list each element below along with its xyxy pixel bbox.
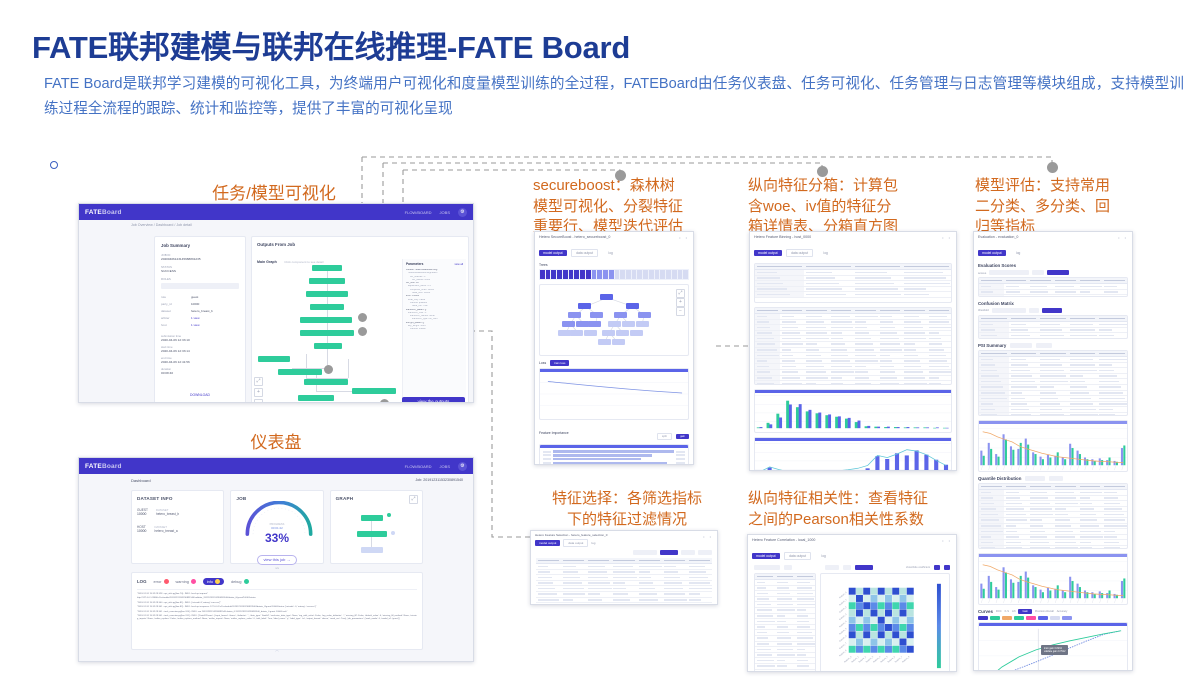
tree-index-cell[interactable] (540, 270, 545, 279)
quantile-select-b[interactable] (1049, 476, 1063, 481)
curve-tab-ks[interactable]: K-S (1005, 610, 1009, 613)
screenshot-secureboost[interactable]: • • Hetero SecureBoost - hetero_securebo… (534, 231, 694, 465)
dag-node[interactable] (314, 343, 342, 349)
table-row[interactable] (536, 603, 712, 605)
table-cell (1097, 338, 1127, 339)
feature-importance-rows (543, 450, 685, 465)
log-line: "2019-12-31 15:32:29.540 - api_utils.py[… (137, 602, 417, 605)
table-cell (1053, 295, 1078, 297)
tree-selector-strip[interactable] (539, 269, 689, 280)
card-title: GRAPH (336, 496, 417, 501)
curve-legend-chip[interactable] (1038, 616, 1048, 620)
tree-node[interactable] (600, 294, 613, 300)
tree-index-cell[interactable] (626, 270, 631, 279)
curve-tab-acc[interactable]: Accuracy (1057, 610, 1068, 613)
dag-anchor-dot (324, 365, 333, 374)
svg-text:feature_0: feature_0 (839, 591, 848, 600)
outputs-from-job-card: Outputs From Job Main Graph Click compon… (251, 236, 469, 403)
tree-node[interactable] (626, 303, 639, 309)
screenshot-evaluation[interactable]: • • Evaluation - evaluation_0 model outp… (973, 231, 1133, 671)
dataset-count: 10000 (137, 512, 148, 516)
board-topbar: FATEBoard FLOW/BOARD JOBS ⚙ (79, 458, 473, 474)
field-value[interactable]: 1 view (191, 316, 200, 320)
parameters-more-link[interactable]: view all (454, 263, 463, 266)
parameters-panel: Parameters view all module: HeteroFeatur… (402, 259, 466, 399)
dag-anchor-dot (387, 513, 391, 517)
feature-selection-table[interactable] (536, 558, 712, 605)
table-cell (795, 669, 815, 672)
dag-node[interactable] (352, 388, 396, 394)
binning-woe-bars (755, 438, 951, 471)
loss-chart (539, 368, 689, 420)
breadcrumb: Job Overview / Dashboard / Job detail (79, 220, 473, 227)
confusion-apply-button[interactable] (1042, 308, 1062, 313)
table-cell (829, 381, 854, 385)
parameters-title: Parameters (406, 262, 423, 266)
gauge-sub: 00:01:22 (231, 526, 322, 530)
window-controls-icon[interactable]: • • (679, 235, 689, 240)
gauge-cta-sub: n/a (231, 567, 322, 570)
log-filter-debug[interactable]: debug (231, 579, 249, 584)
feature-importance-title: Feature Importance (539, 431, 569, 435)
table-cell (780, 381, 805, 385)
binning-event-bars (755, 390, 951, 432)
log-line: "2019-12-31 15:32:29.541 - api_utils.py[… (137, 606, 417, 609)
window-controls-icon[interactable]: • • (703, 534, 713, 539)
tree-node[interactable] (608, 321, 621, 327)
panel-title: Hetero Feature Binning - host_0000 (754, 235, 952, 239)
table-cell (755, 381, 780, 385)
dag-node[interactable] (361, 515, 383, 521)
tab-model-output[interactable]: model output (754, 250, 782, 256)
tree-node[interactable] (622, 321, 635, 327)
dag-node[interactable] (312, 265, 342, 271)
dag-node[interactable] (309, 278, 345, 284)
curve-legend[interactable] (978, 616, 1128, 620)
tree-node[interactable] (616, 330, 629, 336)
annotation-evaluation: 模型评估：支持常用 二分类、多分类、回 归等指标 (975, 176, 1145, 238)
nav-flow-board[interactable]: FLOW/BOARD (405, 210, 432, 215)
corr-checkbox-label[interactable]: show/hide coefficient (906, 566, 930, 569)
log-label: LOG (137, 579, 147, 584)
annotation-dot-evaluation (1047, 162, 1058, 173)
tree-node[interactable] (570, 330, 583, 336)
table-cell (1009, 412, 1039, 416)
mini-dag[interactable] (353, 511, 407, 559)
tree-index-cell[interactable] (678, 270, 683, 279)
tab-model-output[interactable]: model output (978, 250, 1006, 256)
field-value: hetero_breast_b (191, 309, 213, 313)
dataset-info-card: DATASET INFO GUEST 10000 DATASET hetero_… (131, 490, 224, 564)
loss-line (540, 369, 688, 419)
table-cell (1078, 545, 1103, 549)
dag-node[interactable] (300, 317, 352, 323)
tab-data-output[interactable]: data output (784, 552, 811, 560)
table-cell (979, 545, 1004, 549)
tree-index-cell[interactable] (649, 270, 654, 279)
parameters-list: module: HeteroFeatureBinningHeteroFeatur… (406, 269, 463, 332)
field-label: role (161, 295, 187, 299)
field-value: 10000 (191, 302, 199, 306)
psi-bars (979, 421, 1127, 471)
field-label: party_id (161, 302, 187, 306)
tree-index-cell[interactable] (643, 270, 648, 279)
tree-node[interactable] (568, 312, 581, 318)
board-topbar: FATEBoard FLOW/BOARD JOBS ⚙ (79, 204, 473, 220)
bullet-marker-icon (50, 161, 58, 169)
window-controls-icon[interactable]: • • (1118, 235, 1128, 240)
table-cell (1004, 545, 1029, 549)
table-row[interactable] (979, 338, 1127, 339)
card-title: DATASET INFO (137, 496, 218, 501)
tab-log[interactable]: log (823, 251, 827, 255)
panel-title: Hetero Feature Selection - hetero_featur… (535, 533, 713, 537)
curve-tab-gain[interactable]: Gain (1018, 609, 1031, 614)
tab-model-output[interactable]: model output (535, 540, 560, 546)
table-cell (687, 603, 712, 605)
tree-node[interactable] (590, 312, 603, 318)
dag-node[interactable] (298, 395, 334, 401)
corr-search-input[interactable] (754, 565, 780, 570)
log-lines[interactable]: "2019-12-31 15:32:29.528 - api_utils.py[… (137, 589, 417, 647)
tree-index-cell[interactable] (620, 270, 625, 279)
curve-legend-chip[interactable] (1014, 616, 1024, 620)
table-cell (927, 381, 952, 385)
field-value[interactable]: 1 view (191, 323, 200, 327)
tree-node[interactable] (638, 312, 651, 318)
table-cell (1038, 412, 1068, 416)
tab-data-output[interactable]: data output (571, 249, 598, 257)
feature-importance-chart[interactable] (539, 444, 689, 465)
section-curves: Curves (978, 609, 993, 614)
tree-node[interactable] (578, 303, 591, 309)
threshold-slider[interactable] (992, 308, 1026, 313)
tab-log[interactable]: log (591, 541, 595, 545)
psi-select-b[interactable] (1036, 343, 1052, 348)
nav-flow-board[interactable]: FLOW/BOARD (405, 464, 432, 469)
panel-title: Evaluation - evaluation_0 (978, 235, 1128, 239)
table-cell (1028, 295, 1053, 297)
evaluation-scores-table[interactable] (978, 277, 1128, 297)
table-cell (775, 669, 795, 672)
log-line: "2019-12-31 15:32:29.528 - api_utils.py[… (137, 593, 417, 596)
binning-detail-table[interactable] (754, 307, 952, 385)
tree-index-cell[interactable] (597, 270, 602, 279)
curve-legend-chip[interactable] (1026, 616, 1036, 620)
nav-jobs[interactable]: JOBS (440, 464, 450, 469)
tree-index-cell[interactable] (569, 270, 574, 279)
tab-log[interactable]: log (608, 251, 612, 255)
binning-summary-table[interactable] (754, 263, 952, 303)
correlation-heatmap[interactable]: feature_0feature_0feature_1feature_1feat… (820, 573, 950, 672)
table-cell (979, 338, 1009, 339)
fs-filter-button[interactable] (681, 550, 695, 555)
curve-legend-chip[interactable] (978, 616, 988, 620)
annotation-binning: 纵向特征分箱：计算包 含woe、iv值的特征分 箱详情表、分箱直方图 (748, 176, 934, 238)
fateboard-logo: FATEBoard (85, 463, 122, 470)
dag-anchor-dot (391, 531, 395, 535)
importance-legend-split[interactable]: split (657, 433, 672, 440)
binning-woe-chart (754, 437, 952, 471)
table-cell (536, 603, 561, 605)
tree-node[interactable] (614, 312, 627, 318)
feature-importance-row (543, 450, 685, 453)
screenshot-dashboard[interactable]: FATEBoard FLOW/BOARD JOBS ⚙ Dashboard Jo… (78, 457, 474, 662)
quantile-select-a[interactable] (1025, 476, 1045, 481)
table-cell (853, 381, 878, 385)
curve-legend-chip[interactable] (1062, 616, 1072, 620)
fs-search-input[interactable] (633, 550, 657, 555)
fs-export-button[interactable] (698, 550, 712, 555)
panel-title: Hetero Feature Correlation - local_1000 (752, 538, 952, 542)
tab-log[interactable]: log (1016, 251, 1020, 255)
zoom-out-button[interactable]: − (254, 399, 263, 403)
tree-node[interactable] (588, 321, 601, 327)
tab-data-output[interactable]: data output (563, 539, 588, 547)
tree-index-cell[interactable] (660, 270, 665, 279)
screenshot-job-model-visualization[interactable]: FATEBoard FLOW/BOARD JOBS ⚙ Job Overview… (78, 203, 474, 403)
table-row[interactable] (979, 545, 1127, 549)
tree-index-cell[interactable] (655, 270, 660, 279)
dataset-name: hetero_breast_a (154, 529, 177, 533)
scores-filter[interactable] (1032, 270, 1044, 275)
view-job-button[interactable]: view this job → (257, 555, 298, 565)
tree-index-cell[interactable] (551, 270, 556, 279)
feature-importance-row (543, 454, 685, 457)
quantile-distribution-table[interactable] (978, 483, 1128, 549)
job-summary-card: Job Summary JOB ID 202004061231456888912… (154, 236, 246, 403)
scores-select[interactable] (989, 270, 1029, 275)
tree-index-cell[interactable] (632, 270, 637, 279)
dag-node[interactable] (300, 330, 354, 336)
corr-confirm-button[interactable] (855, 565, 873, 570)
corr-view-toggle-a[interactable] (934, 565, 940, 570)
tree-index-cell[interactable] (603, 270, 608, 279)
table-cell (1038, 338, 1068, 339)
tree-index-cell[interactable] (557, 270, 562, 279)
tree-node[interactable] (612, 339, 625, 345)
dag-node[interactable] (278, 369, 322, 375)
dag-canvas[interactable]: ⤢ + − (256, 259, 404, 399)
dag-node[interactable] (304, 379, 348, 385)
table-row[interactable] (755, 381, 951, 385)
dag-anchor-dot (358, 313, 367, 322)
table-cell (853, 292, 902, 298)
table-cell (1102, 545, 1127, 549)
corr-select-b[interactable] (843, 565, 851, 570)
log-filter-error[interactable]: error (154, 579, 169, 584)
section-confusion-matrix: Confusion Matrix (978, 301, 1128, 306)
threshold-value[interactable] (1029, 308, 1039, 313)
tree-index-cell[interactable] (637, 270, 642, 279)
window-controls-icon[interactable]: • • (942, 235, 952, 240)
loss-legend[interactable]: train loss (550, 360, 569, 366)
svg-text:feature_8: feature_8 (901, 655, 910, 664)
tab-data-output[interactable]: data output (786, 249, 813, 257)
fateboard-logo: FATEBoard (85, 209, 122, 216)
table-row[interactable] (755, 669, 815, 672)
quantile-chart (978, 553, 1128, 605)
tree-node[interactable] (598, 339, 611, 345)
panel-title: Hetero SecureBoost - hetero_secureboost_… (539, 235, 689, 239)
zoom-fit-button[interactable]: ⤢ (254, 377, 263, 386)
field-label: arbiter (161, 316, 187, 320)
view-outputs-button[interactable]: view the outputs (402, 397, 465, 403)
job-progress-card: JOB PROGRESS 00:01:22 33% (230, 490, 323, 564)
quantile-bars (979, 554, 1127, 604)
parameter-line: method: Paillier (406, 328, 463, 331)
log-card: LOG error warning info debug "2019-12-31… (131, 572, 423, 650)
dag-node[interactable] (258, 356, 290, 362)
tree-diagram[interactable]: ⤢ + − (539, 284, 689, 356)
tab-model-output[interactable]: model output (752, 553, 780, 559)
screenshot-feature-correlation[interactable]: • • Hetero Feature Correlation - local_1… (747, 534, 957, 672)
log-filter-warning[interactable]: warning (176, 579, 196, 584)
nav-jobs[interactable]: JOBS (440, 210, 450, 215)
table-cell (755, 669, 775, 672)
tree-node[interactable] (584, 330, 597, 336)
psi-summary-table[interactable] (978, 350, 1128, 416)
dataset-name: hetero_breast_b (156, 512, 179, 516)
table-cell (804, 292, 853, 298)
roles-select[interactable] (161, 283, 239, 289)
log-line: http://127.0.0.1:9380/v1/schedule/201912… (137, 597, 417, 600)
table-cell (902, 292, 951, 298)
scores-apply-button[interactable] (1047, 270, 1069, 275)
log-filter-info[interactable]: info (203, 578, 224, 585)
table-row[interactable] (755, 292, 951, 298)
tree-node[interactable] (562, 321, 575, 327)
dag-node[interactable] (361, 547, 383, 553)
table-cell (1028, 545, 1053, 549)
dashboard-job-id: Job: 20191231153230891540 (415, 478, 463, 483)
table-cell (1102, 295, 1127, 297)
corr-view-toggle-b[interactable] (944, 565, 950, 570)
gear-icon[interactable]: ⚙ (458, 208, 467, 217)
screenshot-feature-binning[interactable]: • • Hetero Feature Binning - host_0000 m… (749, 231, 957, 471)
table-cell (1004, 295, 1029, 297)
outputs-title: Outputs From Job (257, 242, 463, 247)
table-cell (561, 603, 586, 605)
tree-index-cell[interactable] (586, 270, 591, 279)
tree-node[interactable] (602, 330, 615, 336)
roc-tooltip: train gain 0.8234validate gain 0.7912 (1041, 645, 1068, 655)
tree-nodes[interactable] (540, 285, 688, 355)
dag-node[interactable] (306, 291, 348, 297)
tree-index-cell[interactable] (672, 270, 677, 279)
psi-chart (978, 420, 1128, 472)
graph-card: GRAPH ⤢ (330, 490, 423, 564)
table-cell (979, 295, 1004, 297)
tree-index-cell[interactable] (609, 270, 614, 279)
table-cell (662, 603, 687, 605)
annotation-feature-selection: 特征选择：各筛选指标 下的特征过滤情况 (532, 489, 722, 530)
tree-node[interactable] (630, 330, 643, 336)
annotation-correlation: 纵向特征相关性：查看特征 之间的Pearson相关性系数 (748, 489, 954, 530)
tree-index-cell[interactable] (563, 270, 568, 279)
trees-section-title: Trees (539, 263, 689, 267)
curve-tab-lift[interactable]: Lift (1012, 610, 1015, 613)
field-label: ROLES (161, 277, 239, 281)
table-cell (1068, 412, 1098, 416)
tree-index-cell[interactable] (574, 270, 579, 279)
tab-log[interactable]: log (821, 554, 825, 558)
correlation-table[interactable] (754, 573, 816, 672)
log-line: "2019-12-31 15:32:29.541 - task_executor… (137, 615, 417, 622)
tree-index-cell[interactable] (546, 270, 551, 279)
curve-legend-chip[interactable] (1002, 616, 1012, 620)
tree-index-cell[interactable] (615, 270, 620, 279)
tree-node[interactable] (636, 321, 649, 327)
dataset-count: 10000 (137, 529, 146, 533)
table-cell (1068, 338, 1098, 339)
table-cell (804, 381, 829, 385)
log-collapse-icon[interactable]: ︿ (137, 647, 417, 653)
download-button[interactable]: DOWNLOAD (190, 393, 210, 397)
dag-node[interactable] (310, 304, 344, 310)
tree-index-cell[interactable] (666, 270, 671, 279)
feature-importance-row (543, 461, 685, 464)
corr-select-a[interactable] (825, 565, 839, 570)
table-row[interactable] (979, 412, 1127, 416)
annotation-secureboost: secureboost：森林树 模型可视化、分裂特征 重要行、模型迭代评估 (533, 176, 713, 238)
screenshot-feature-selection[interactable]: • • Hetero Feature Selection - hetero_fe… (530, 530, 718, 605)
field-value: 2020-04-06 12:41:56 (161, 360, 239, 364)
table-cell (878, 381, 903, 385)
dag-anchor-dot (358, 327, 367, 336)
psi-select-a[interactable] (1010, 343, 1032, 348)
page-title: FATE联邦建模与联邦在线推理-FATE Board (32, 22, 1032, 67)
confusion-matrix-table[interactable] (978, 315, 1128, 339)
window-controls-icon[interactable]: • • (942, 538, 952, 543)
expand-icon[interactable]: ⤢ (409, 495, 418, 504)
tab-model-output[interactable]: model output (539, 250, 567, 256)
table-cell (979, 412, 1009, 416)
field-label: dataset (161, 309, 187, 313)
corr-search-icon[interactable] (784, 565, 792, 570)
table-cell (1009, 338, 1039, 339)
roc-chart: train gain 0.8234validate gain 0.7912 (978, 622, 1128, 671)
curve-legend-chip[interactable] (1050, 616, 1060, 620)
heatmap-cells: feature_0feature_0feature_1feature_1feat… (821, 574, 949, 672)
fs-download-button[interactable] (660, 550, 678, 555)
field-value: 20200406123145688891235 (161, 257, 239, 261)
section-psi-summary: PSI Summary (978, 343, 1006, 348)
dag-node[interactable] (344, 402, 380, 403)
tree-index-cell[interactable] (580, 270, 585, 279)
curve-tab-roc[interactable]: ROC (996, 610, 1002, 613)
job-summary-title: Job Summary (161, 243, 239, 248)
section-quantile-distribution: Quantile Distribution (978, 476, 1021, 481)
table-row[interactable] (979, 295, 1127, 297)
tree-index-cell[interactable] (683, 270, 688, 279)
curve-legend-chip[interactable] (990, 616, 1000, 620)
gear-icon[interactable]: ⚙ (458, 462, 467, 471)
field-value: 2020-04-06 12:33:10 (161, 338, 239, 342)
dag-node[interactable] (357, 531, 387, 537)
page-subtitle: FATE Board是联邦学习建模的可视化工具，为终端用户可视化和度量模型训练的… (44, 72, 1184, 122)
tree-index-cell[interactable] (592, 270, 597, 279)
field-value: 00:08:40 (161, 371, 239, 375)
table-cell (755, 292, 804, 298)
curve-tab-pr[interactable]: Precision-Recall (1035, 610, 1054, 613)
section-evaluation-scores: Evaluation Scores (978, 263, 1128, 268)
importance-legend-gain[interactable]: gain (676, 434, 689, 439)
table-cell (1097, 412, 1127, 416)
table-cell (611, 603, 636, 605)
field-value: guest (191, 295, 198, 299)
zoom-in-button[interactable]: + (254, 388, 263, 397)
